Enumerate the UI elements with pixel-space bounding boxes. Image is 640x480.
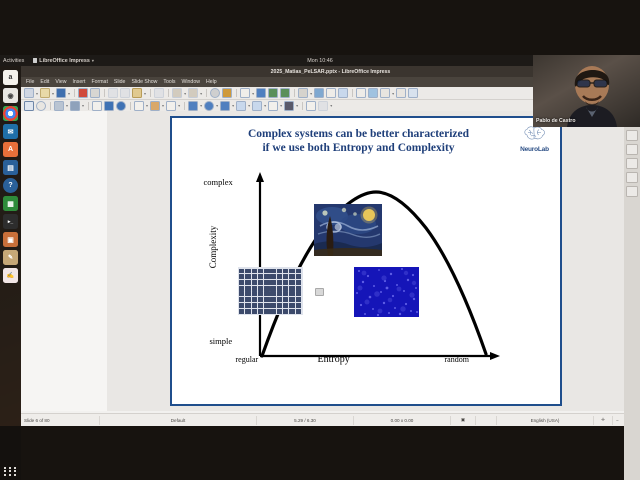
status-master-slide[interactable]: Default [100,416,257,425]
basic-shapes-icon[interactable] [188,101,198,111]
screen-top-letterbox [0,0,640,55]
insert-hyperlink-icon[interactable] [368,88,378,98]
rectangle-icon[interactable] [104,101,114,111]
dock-item-impress[interactable]: ▣ [3,232,18,247]
master-slide-icon[interactable] [256,88,266,98]
insert-chart-icon[interactable] [338,88,348,98]
menu-format[interactable]: Format [91,79,107,85]
y-axis-arrow [256,172,264,182]
menu-slideshow[interactable]: Slide Show [131,79,157,85]
chevron-down-icon: ▾ [92,58,94,63]
current-slide[interactable]: Complex systems can be better characteri… [170,116,562,406]
symbol-shapes-icon[interactable] [204,101,214,111]
print-icon[interactable] [90,88,100,98]
webcam-overlay[interactable]: Pablo de Castro [533,55,640,127]
rail-item-1[interactable] [626,130,638,141]
undo-icon[interactable] [172,88,182,98]
dock-item-thunderbird[interactable]: ✉ [3,124,18,139]
x-tick-random: random [445,355,469,364]
menu-view[interactable]: View [55,79,66,85]
menu-file[interactable]: File [26,79,34,85]
slide-edit-area[interactable]: Complex systems can be better characteri… [107,111,624,411]
new-icon[interactable] [24,88,34,98]
status-slide-counter: Slide 6 of 80 [21,416,100,425]
dock-item-anaconda[interactable]: A [3,142,18,157]
slide-title-line1: Complex systems can be better characteri… [194,128,524,142]
insert-textbox-icon[interactable] [326,88,336,98]
activities-button[interactable]: Activities [3,58,24,64]
cut-icon[interactable] [108,88,118,98]
start-from-current-slide-icon[interactable] [280,88,290,98]
duplicate-slide-icon[interactable] [396,88,406,98]
start-from-first-slide-icon[interactable] [268,88,278,98]
dock-item-chrome[interactable] [3,106,18,121]
y-tick-complex: complex [204,177,233,187]
insert-table-icon[interactable] [298,88,308,98]
clone-formatting-icon[interactable] [154,88,164,98]
menu-window[interactable]: Window [182,79,200,85]
menu-help[interactable]: Help [206,79,217,85]
x-axis-arrow [490,352,500,360]
dock-item-mail[interactable]: ✍ [3,268,18,283]
menu-tools[interactable]: Tools [163,79,175,85]
arrow-icon[interactable] [134,101,144,111]
rail-item-2[interactable] [626,144,638,155]
status-cursor-position: 5.29 / 6.30 [257,416,354,425]
copy-icon[interactable] [120,88,130,98]
flowchart-icon[interactable] [236,101,246,111]
impress-workspace: Complex systems can be better characteri… [21,111,640,411]
dock-item-settings[interactable]: ◉ [3,88,18,103]
3d-objects-icon[interactable] [284,101,294,111]
status-signature [476,416,497,425]
ellipse-icon[interactable] [116,101,126,111]
screen-bottom-letterbox [0,426,640,480]
dock-item-gimp[interactable]: ✎ [3,250,18,265]
stars-icon[interactable] [268,101,278,111]
redo-icon[interactable] [188,88,198,98]
small-marker [315,288,324,296]
save-icon[interactable] [56,88,66,98]
select-icon[interactable] [24,101,34,111]
dock-item-writer[interactable]: ▤ [3,160,18,175]
insert-line-icon[interactable] [92,101,102,111]
status-language[interactable]: English (USA) [497,416,594,425]
right-edge-rail [624,127,640,480]
status-fit-slide-icon[interactable]: ✛ [594,416,613,425]
entropy-complexity-chart: complex simple Complexity regular random… [198,170,538,392]
curve-icon[interactable] [150,101,160,111]
insert-special-character-icon[interactable] [356,88,366,98]
screen-left-letterbox [0,0,21,55]
slide-title[interactable]: Complex systems can be better characteri… [194,128,524,155]
participant-name: Pablo de Castro [536,118,576,124]
active-app-label: LibreOffice Impress [39,58,90,64]
y-axis-label: Complexity [208,210,218,284]
slide-layout-icon[interactable] [408,88,418,98]
menu-edit[interactable]: Edit [40,79,49,85]
line-color-icon[interactable] [70,101,80,111]
dock-item-amazon[interactable]: a [3,70,18,85]
document-icon [33,58,37,63]
dock-item-terminal[interactable]: ▸_ [3,214,18,229]
x-tick-regular: regular [236,355,259,364]
neurolab-logo-text: NeuroLab [514,146,556,153]
y-tick-simple: simple [210,336,233,346]
lattice-image[interactable] [238,267,303,315]
noise-image[interactable] [354,267,419,317]
find-replace-icon[interactable] [210,88,220,98]
spelling-icon[interactable] [222,88,232,98]
screen: Activities LibreOffice Impress ▾ Mon 10:… [0,0,640,480]
rail-item-5[interactable] [626,186,638,197]
fill-color-icon[interactable] [54,101,64,111]
rotate-icon[interactable] [306,101,316,111]
block-arrows-icon[interactable] [220,101,230,111]
zoom-icon[interactable] [36,101,46,111]
window-title: 2025_Matias_PeLSAR.pptx - LibreOffice Im… [271,69,391,75]
status-modified-indicator: ▣ [451,416,476,425]
insert-image-icon[interactable] [314,88,324,98]
align-icon[interactable] [318,101,328,111]
dock-item-calc[interactable]: ▦ [3,196,18,211]
slide-panel[interactable] [21,111,108,411]
rail-item-4[interactable] [626,172,638,183]
x-axis-label: Entropy [318,354,350,365]
menu-slide[interactable]: Slide [114,79,126,85]
display-views-icon[interactable] [240,88,250,98]
status-object-size: 0.00 x 0.00 [354,416,451,425]
menu-insert[interactable]: Insert [72,79,85,85]
dock-item-help[interactable]: ? [3,178,18,193]
status-bar: Slide 6 of 80 Default 5.29 / 6.30 0.00 x… [21,413,640,426]
rail-item-3[interactable] [626,158,638,169]
system-clock[interactable]: Mon 10:46 [307,58,332,64]
brain-icon [522,125,548,142]
show-applications-button[interactable] [4,467,17,476]
callout-shapes-icon[interactable] [252,101,262,111]
ubuntu-dock: a ◉ ✉ A ▤ ? ▦ ▸_ ▣ ✎ ✍ [0,66,21,480]
open-icon[interactable] [40,88,50,98]
paste-icon[interactable] [132,88,142,98]
slide-title-line2: if we use both Entropy and Complexity [194,142,524,156]
new-slide-icon[interactable] [380,88,390,98]
starry-night-image[interactable] [314,204,382,256]
connector-icon[interactable] [166,101,176,111]
neurolab-logo: NeuroLab [514,125,556,153]
zoom-out-button[interactable]: − [613,416,622,425]
export-pdf-icon[interactable] [78,88,88,98]
active-app-menu[interactable]: LibreOffice Impress ▾ [33,58,94,64]
